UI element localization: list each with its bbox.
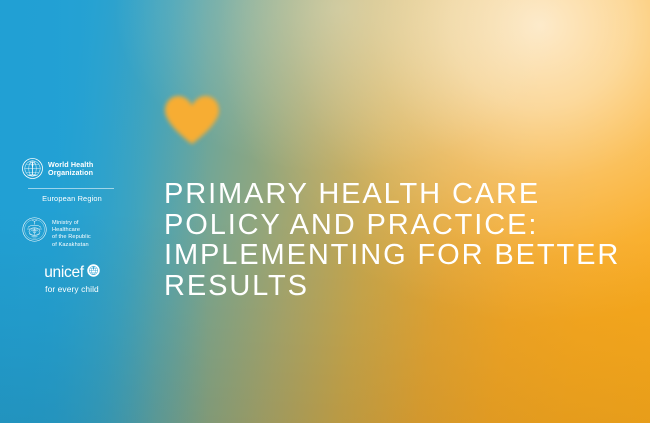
unicef-globe-icon — [87, 264, 100, 282]
page-title: PRIMARY HEALTH CARE POLICY AND PRACTICE:… — [164, 179, 634, 301]
logo-unicef: unicef for every child — [22, 264, 122, 294]
who-line2: Organization — [48, 168, 93, 177]
who-emblem-icon — [22, 158, 43, 184]
moh-line1: Ministry of — [52, 220, 79, 226]
logo-who: World HealthOrganization European Region — [22, 158, 122, 203]
unicef-tagline: for every child — [22, 284, 122, 294]
logo-stack: World HealthOrganization European Region — [22, 158, 122, 294]
who-region-label: European Region — [22, 194, 122, 203]
who-divider — [28, 188, 114, 189]
moh-line4: of Kazakhstan — [52, 242, 89, 248]
moh-line3: of the Republic — [52, 234, 91, 240]
title-slide: World HealthOrganization European Region — [0, 0, 650, 423]
kazakhstan-emblem-icon — [22, 217, 47, 247]
who-wordmark: World HealthOrganization — [48, 158, 93, 178]
logo-ministry-of-healthcare: Ministry ofHealthcareof the Republicof K… — [22, 217, 122, 249]
ministry-wordmark: Ministry ofHealthcareof the Republicof K… — [52, 217, 91, 249]
unicef-wordmark: unicef — [44, 265, 84, 281]
heart-icon — [163, 94, 221, 146]
moh-line2: Healthcare — [52, 227, 80, 233]
